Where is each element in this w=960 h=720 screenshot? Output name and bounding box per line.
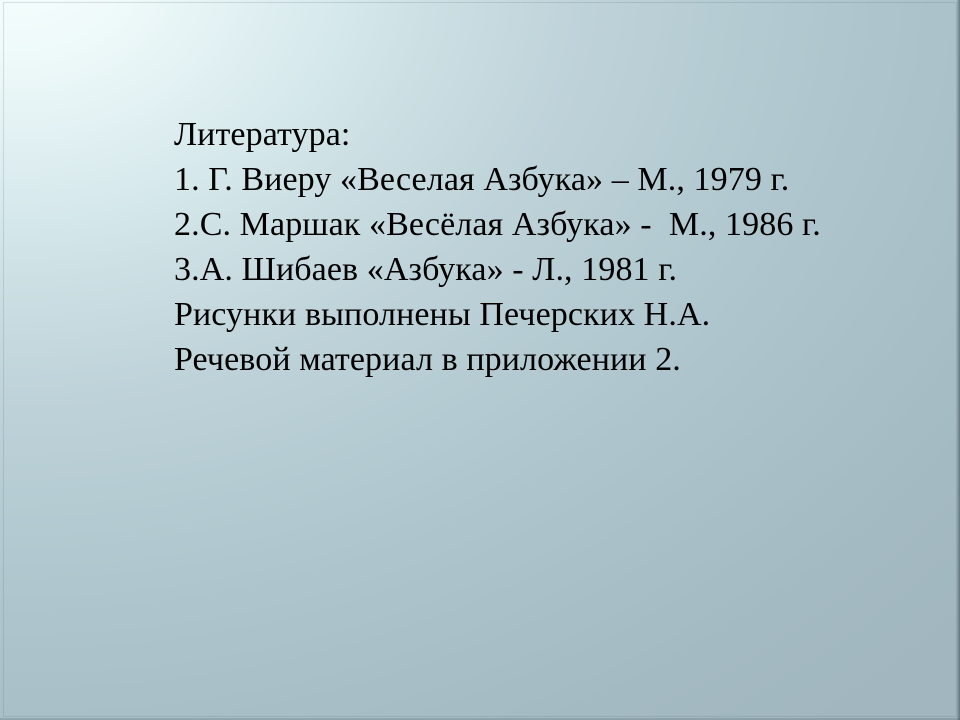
reference-item-1: 1. Г. Виеру «Веселая Азбука» – М., 1979 … <box>174 157 914 202</box>
illustrations-credit-line: Рисунки выполнены Печерских Н.А. <box>174 292 914 337</box>
appendix-note-line: Речевой материал в приложении 2. <box>174 337 914 382</box>
reference-item-2: 2.С. Маршак «Весёлая Азбука» - М., 1986 … <box>174 202 914 247</box>
reference-item-3: 3.А. Шибаев «Азбука» - Л., 1981 г. <box>174 247 914 292</box>
bibliography-heading: Литература: <box>174 112 914 157</box>
presentation-slide: Литература: 1. Г. Виеру «Веселая Азбука»… <box>0 0 960 720</box>
bibliography-text-block: Литература: 1. Г. Виеру «Веселая Азбука»… <box>174 112 914 382</box>
